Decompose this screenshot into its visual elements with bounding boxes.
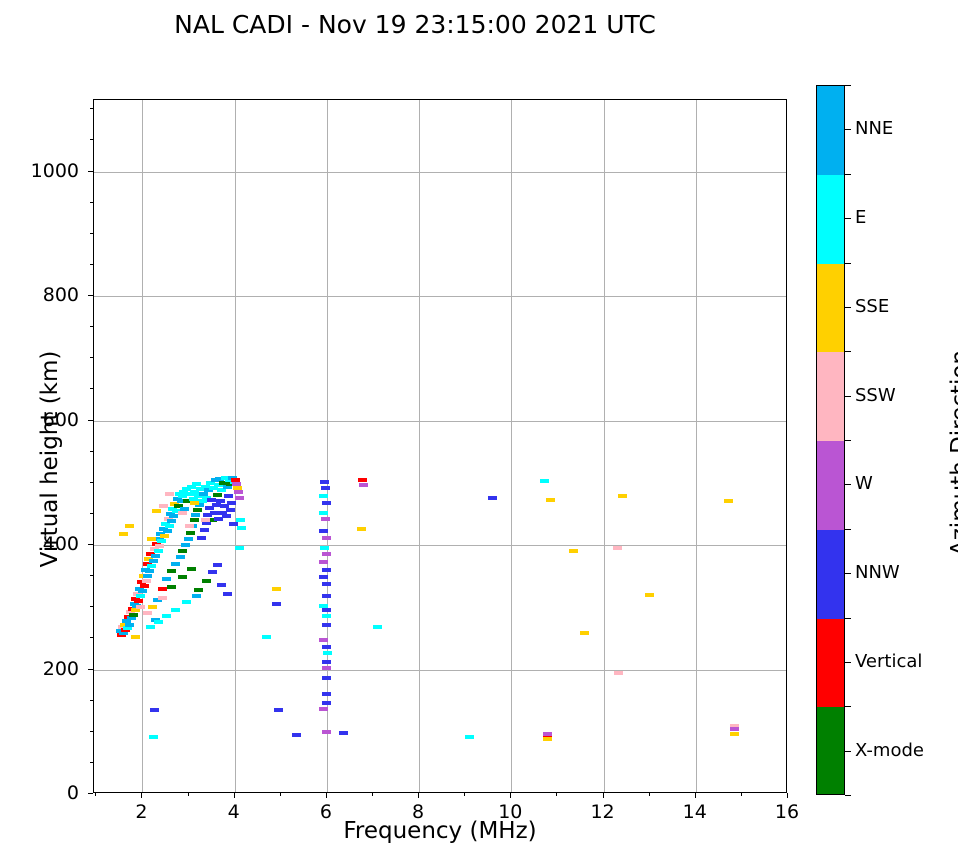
colorbar-label-w: W [855, 473, 873, 494]
x-tick-minor [464, 793, 465, 796]
data-point [569, 549, 578, 553]
data-point [198, 499, 207, 503]
colorbar-segment-nnw [817, 530, 844, 619]
y-tick-minor [90, 637, 93, 638]
y-tick-minor [90, 388, 93, 389]
data-point [322, 501, 331, 505]
x-tick-minor [95, 793, 96, 796]
data-point [200, 528, 209, 532]
data-point [158, 596, 167, 600]
gridline-horizontal [94, 545, 786, 546]
data-point [119, 631, 128, 635]
data-point [176, 555, 185, 559]
data-point [165, 492, 174, 496]
data-point [150, 708, 159, 712]
data-point [216, 499, 225, 503]
colorbar-boundary-tick [845, 618, 851, 619]
y-tick-minor [90, 326, 93, 327]
data-point [197, 536, 206, 540]
data-point [224, 494, 233, 498]
data-point [185, 524, 194, 528]
data-point [543, 737, 552, 741]
data-point [147, 564, 156, 568]
gridline-vertical [696, 100, 697, 792]
data-point [580, 631, 589, 635]
colorbar-segment-x-mode [817, 707, 844, 795]
data-point [465, 735, 474, 739]
data-point [178, 575, 187, 579]
data-point [322, 666, 331, 670]
data-point [213, 563, 222, 567]
colorbar-label-x-mode: X-mode [855, 740, 924, 761]
data-point [322, 614, 331, 618]
data-point [357, 527, 366, 531]
data-point [322, 536, 331, 540]
data-point [131, 635, 140, 639]
y-tick [88, 544, 93, 545]
data-point [127, 616, 136, 620]
data-point [235, 496, 244, 500]
data-point [167, 569, 176, 573]
data-point [152, 509, 161, 513]
colorbar-tick [845, 307, 851, 308]
data-point [222, 514, 231, 518]
data-point [613, 546, 622, 550]
data-point [272, 587, 281, 591]
data-point [234, 490, 243, 494]
colorbar-tick [845, 396, 851, 397]
x-tick [695, 793, 696, 798]
colorbar-boundary-tick [845, 795, 851, 796]
colorbar-label-vertical: Vertical [855, 651, 922, 672]
data-point [184, 537, 193, 541]
data-point [125, 623, 134, 627]
data-point [193, 508, 202, 512]
data-point [236, 518, 245, 522]
colorbar-label-e: E [855, 207, 866, 228]
colorbar-boundary-tick [845, 351, 851, 352]
data-point [162, 577, 171, 581]
x-tick [326, 793, 327, 798]
data-point [138, 589, 147, 593]
data-point [322, 552, 331, 556]
data-point [543, 732, 552, 736]
data-point [540, 479, 549, 483]
gridline-horizontal [94, 421, 786, 422]
data-point [319, 529, 328, 533]
y-tick-minor [90, 202, 93, 203]
data-point [322, 701, 331, 705]
data-point [322, 660, 331, 664]
colorbar-segment-nne [817, 86, 844, 175]
x-tick [418, 793, 419, 798]
x-tick-minor [556, 793, 557, 796]
data-point [154, 549, 163, 553]
y-tick [88, 669, 93, 670]
y-tick-label: 0 [9, 782, 79, 804]
y-tick-minor [90, 700, 93, 701]
data-point [178, 511, 187, 515]
colorbar-tick [845, 129, 851, 130]
data-point [171, 608, 180, 612]
gridline-vertical [235, 100, 236, 792]
y-tick-minor [90, 108, 93, 109]
data-point [339, 731, 348, 735]
data-point [157, 539, 166, 543]
data-point [217, 488, 226, 492]
y-tick-minor [90, 513, 93, 514]
data-point [321, 517, 330, 521]
data-point [167, 585, 176, 589]
data-point [237, 526, 246, 530]
y-tick-minor [90, 451, 93, 452]
data-point [319, 494, 328, 498]
gridline-vertical [604, 100, 605, 792]
x-tick-minor [188, 793, 189, 796]
x-tick-minor [649, 793, 650, 796]
data-point [618, 494, 627, 498]
data-point [140, 584, 149, 588]
data-point [488, 496, 497, 500]
data-point [322, 608, 331, 612]
colorbar-segment-w [817, 441, 844, 530]
colorbar-tick [845, 484, 851, 485]
data-point [322, 730, 331, 734]
data-point [322, 676, 331, 680]
y-tick-minor [90, 233, 93, 234]
gridline-horizontal [94, 670, 786, 671]
data-point [190, 518, 199, 522]
data-point [292, 733, 301, 737]
data-point [190, 501, 199, 505]
data-point [154, 620, 163, 624]
data-point [319, 511, 328, 515]
data-point [142, 579, 151, 583]
data-point [322, 594, 331, 598]
y-tick-minor [90, 762, 93, 763]
data-point [319, 560, 328, 564]
gridline-vertical [419, 100, 420, 792]
data-point [202, 579, 211, 583]
data-point [145, 569, 154, 573]
data-point [319, 575, 328, 579]
data-point [322, 623, 331, 627]
data-point [194, 588, 203, 592]
y-tick-label: 1000 [9, 160, 79, 182]
data-point [159, 504, 168, 508]
data-point [125, 524, 134, 528]
data-point [319, 707, 328, 711]
data-point [614, 671, 623, 675]
data-point [136, 594, 145, 598]
data-point [724, 499, 733, 503]
data-point [226, 508, 235, 512]
data-point [323, 651, 332, 655]
data-point [181, 543, 190, 547]
colorbar-boundary-tick [845, 85, 851, 86]
colorbar-boundary-tick [845, 529, 851, 530]
colorbar-segment-e [817, 175, 844, 264]
data-point [213, 493, 222, 497]
y-tick-minor [90, 482, 93, 483]
data-point [201, 518, 210, 522]
data-point [186, 531, 195, 535]
data-point [322, 692, 331, 696]
x-axis-label: Frequency (MHz) [93, 818, 787, 844]
data-point [163, 529, 172, 533]
data-point [359, 483, 368, 487]
y-tick-label: 200 [9, 658, 79, 680]
y-axis-label: Virtual height (km) [37, 289, 63, 629]
colorbar [816, 85, 845, 795]
y-tick [88, 171, 93, 172]
data-point [182, 600, 191, 604]
data-point [162, 614, 171, 618]
data-point [160, 534, 169, 538]
x-tick [234, 793, 235, 798]
data-point [319, 638, 328, 642]
data-point [272, 602, 281, 606]
gridline-horizontal [94, 172, 786, 173]
colorbar-boundary-tick [845, 174, 851, 175]
data-point [191, 513, 200, 517]
gridline-vertical [142, 100, 143, 792]
y-tick-minor [90, 139, 93, 140]
data-point [207, 498, 216, 502]
data-point [136, 605, 145, 609]
gridline-horizontal [94, 296, 786, 297]
data-point [149, 559, 158, 563]
data-point [178, 549, 187, 553]
colorbar-segment-vertical [817, 619, 844, 708]
page-title: NAL CADI - Nov 19 23:15:00 2021 UTC [0, 10, 830, 39]
y-tick-minor [90, 575, 93, 576]
colorbar-label-nnw: NNW [855, 562, 900, 583]
data-point [358, 478, 367, 482]
colorbar-tick [845, 662, 851, 663]
x-tick-minor [280, 793, 281, 796]
data-point [208, 570, 217, 574]
y-tick-minor [90, 731, 93, 732]
ionogram-figure: NAL CADI - Nov 19 23:15:00 2021 UTC 2468… [0, 0, 958, 857]
data-point [147, 537, 156, 541]
x-tick [510, 793, 511, 798]
y-tick-minor [90, 357, 93, 358]
gridline-vertical [511, 100, 512, 792]
data-point [151, 554, 160, 558]
y-tick-minor [90, 606, 93, 607]
data-point [321, 486, 330, 490]
data-point [730, 732, 739, 736]
y-tick [88, 793, 93, 794]
colorbar-segment-ssw [817, 352, 844, 441]
data-point [187, 567, 196, 571]
data-point [143, 611, 152, 615]
data-point [235, 546, 244, 550]
data-point [320, 480, 329, 484]
data-point [645, 593, 654, 597]
y-tick [88, 295, 93, 296]
colorbar-tick [845, 218, 851, 219]
data-point [129, 613, 138, 617]
plot-area [93, 99, 787, 793]
colorbar-label: Azimuth Direction [947, 283, 958, 623]
data-point [262, 635, 271, 639]
y-tick [88, 420, 93, 421]
gridline-vertical [327, 100, 328, 792]
data-point [192, 594, 201, 598]
data-point [171, 562, 180, 566]
colorbar-label-sse: SSE [855, 296, 889, 317]
data-point [149, 735, 158, 739]
x-tick [787, 793, 788, 798]
data-point [119, 532, 128, 536]
x-tick-minor [741, 793, 742, 796]
data-point [155, 544, 164, 548]
colorbar-segment-sse [817, 264, 844, 353]
data-point [274, 708, 283, 712]
x-tick [603, 793, 604, 798]
data-point [373, 625, 382, 629]
colorbar-boundary-tick [845, 440, 851, 441]
colorbar-tick [845, 573, 851, 574]
data-point [169, 514, 178, 518]
data-point [134, 599, 143, 603]
colorbar-label-nne: NNE [855, 118, 893, 139]
data-point [123, 626, 132, 630]
x-tick-minor [372, 793, 373, 796]
data-point [227, 501, 236, 505]
colorbar-label-ssw: SSW [855, 385, 896, 406]
data-point [217, 583, 226, 587]
data-point [223, 592, 232, 596]
colorbar-tick [845, 751, 851, 752]
colorbar-boundary-tick [845, 706, 851, 707]
data-point [167, 519, 176, 523]
data-point [320, 546, 329, 550]
data-point [546, 498, 555, 502]
colorbar-boundary-tick [845, 263, 851, 264]
data-point [322, 645, 331, 649]
y-tick-minor [90, 264, 93, 265]
data-point [322, 568, 331, 572]
data-point [143, 574, 152, 578]
data-point [165, 524, 174, 528]
data-point [322, 582, 331, 586]
data-point [158, 587, 167, 591]
data-point [148, 605, 157, 609]
x-tick [141, 793, 142, 798]
data-point [146, 625, 155, 629]
